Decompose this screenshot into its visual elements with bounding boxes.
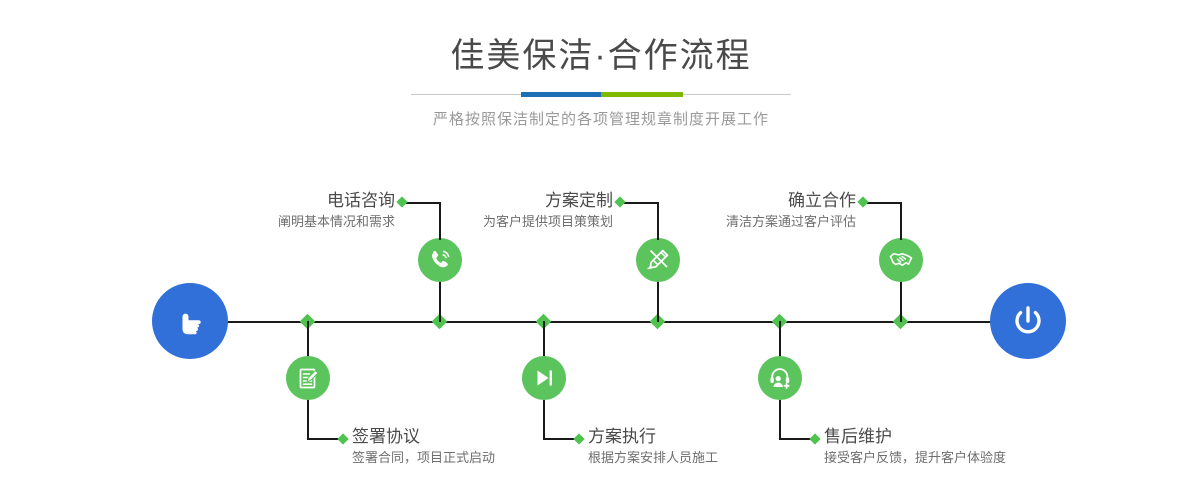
connector-vertical-3 <box>657 281 659 322</box>
step-icon-6 <box>879 238 923 282</box>
connector-horizontal-6 <box>867 202 901 204</box>
title-divider <box>411 92 791 98</box>
step-icon-1 <box>418 238 462 282</box>
document-edit-icon <box>296 366 321 391</box>
connector-vertical-1 <box>439 281 441 322</box>
connector-drop-2 <box>307 400 309 439</box>
step-label-6: 确立合作 清洁方案通过客户评估 <box>536 190 856 232</box>
connector-drop-4 <box>543 400 545 439</box>
pointing-hand-icon <box>170 301 210 341</box>
timeline-end-node <box>990 283 1066 359</box>
connector-vertical-4 <box>543 321 545 357</box>
play-skip-icon <box>531 365 557 391</box>
step-desc-5: 接受客户反馈，提升客户体验度 <box>824 448 1184 468</box>
pencil-ruler-icon <box>645 247 671 273</box>
customer-service-add-icon <box>767 365 793 391</box>
connector-drop-6 <box>900 202 902 240</box>
divider-segment-blue <box>521 92 601 97</box>
flow-diagram: 佳美保洁·合作流程 严格按照保洁制定的各项管理规章制度开展工作 <box>0 0 1202 502</box>
connector-vertical-5 <box>779 321 781 357</box>
power-icon <box>1007 300 1049 342</box>
timeline-start-node <box>152 283 228 359</box>
connector-vertical-6 <box>900 281 902 322</box>
header: 佳美保洁·合作流程 严格按照保洁制定的各项管理规章制度开展工作 <box>0 34 1202 129</box>
page-subtitle: 严格按照保洁制定的各项管理规章制度开展工作 <box>0 108 1202 129</box>
step-icon-2 <box>286 356 330 400</box>
step-title-6: 确立合作 <box>536 190 856 212</box>
connector-horizontal-4 <box>543 438 577 440</box>
connector-horizontal-2 <box>307 438 341 440</box>
label-marker-6 <box>857 196 868 207</box>
label-marker-2 <box>337 433 348 444</box>
connector-vertical-2 <box>307 321 309 357</box>
handshake-icon <box>888 247 914 273</box>
step-desc-6: 清洁方案通过客户评估 <box>536 212 856 232</box>
step-icon-3 <box>636 238 680 282</box>
phone-ring-icon <box>427 247 453 273</box>
step-icon-5 <box>758 356 802 400</box>
step-label-5: 售后维护 接受客户反馈，提升客户体验度 <box>824 426 1184 468</box>
step-title-5: 售后维护 <box>824 426 1184 448</box>
divider-segment-green <box>601 92 683 97</box>
page-title: 佳美保洁·合作流程 <box>0 34 1202 78</box>
connector-horizontal-5 <box>779 438 813 440</box>
connector-drop-5 <box>779 400 781 439</box>
step-icon-4 <box>522 356 566 400</box>
